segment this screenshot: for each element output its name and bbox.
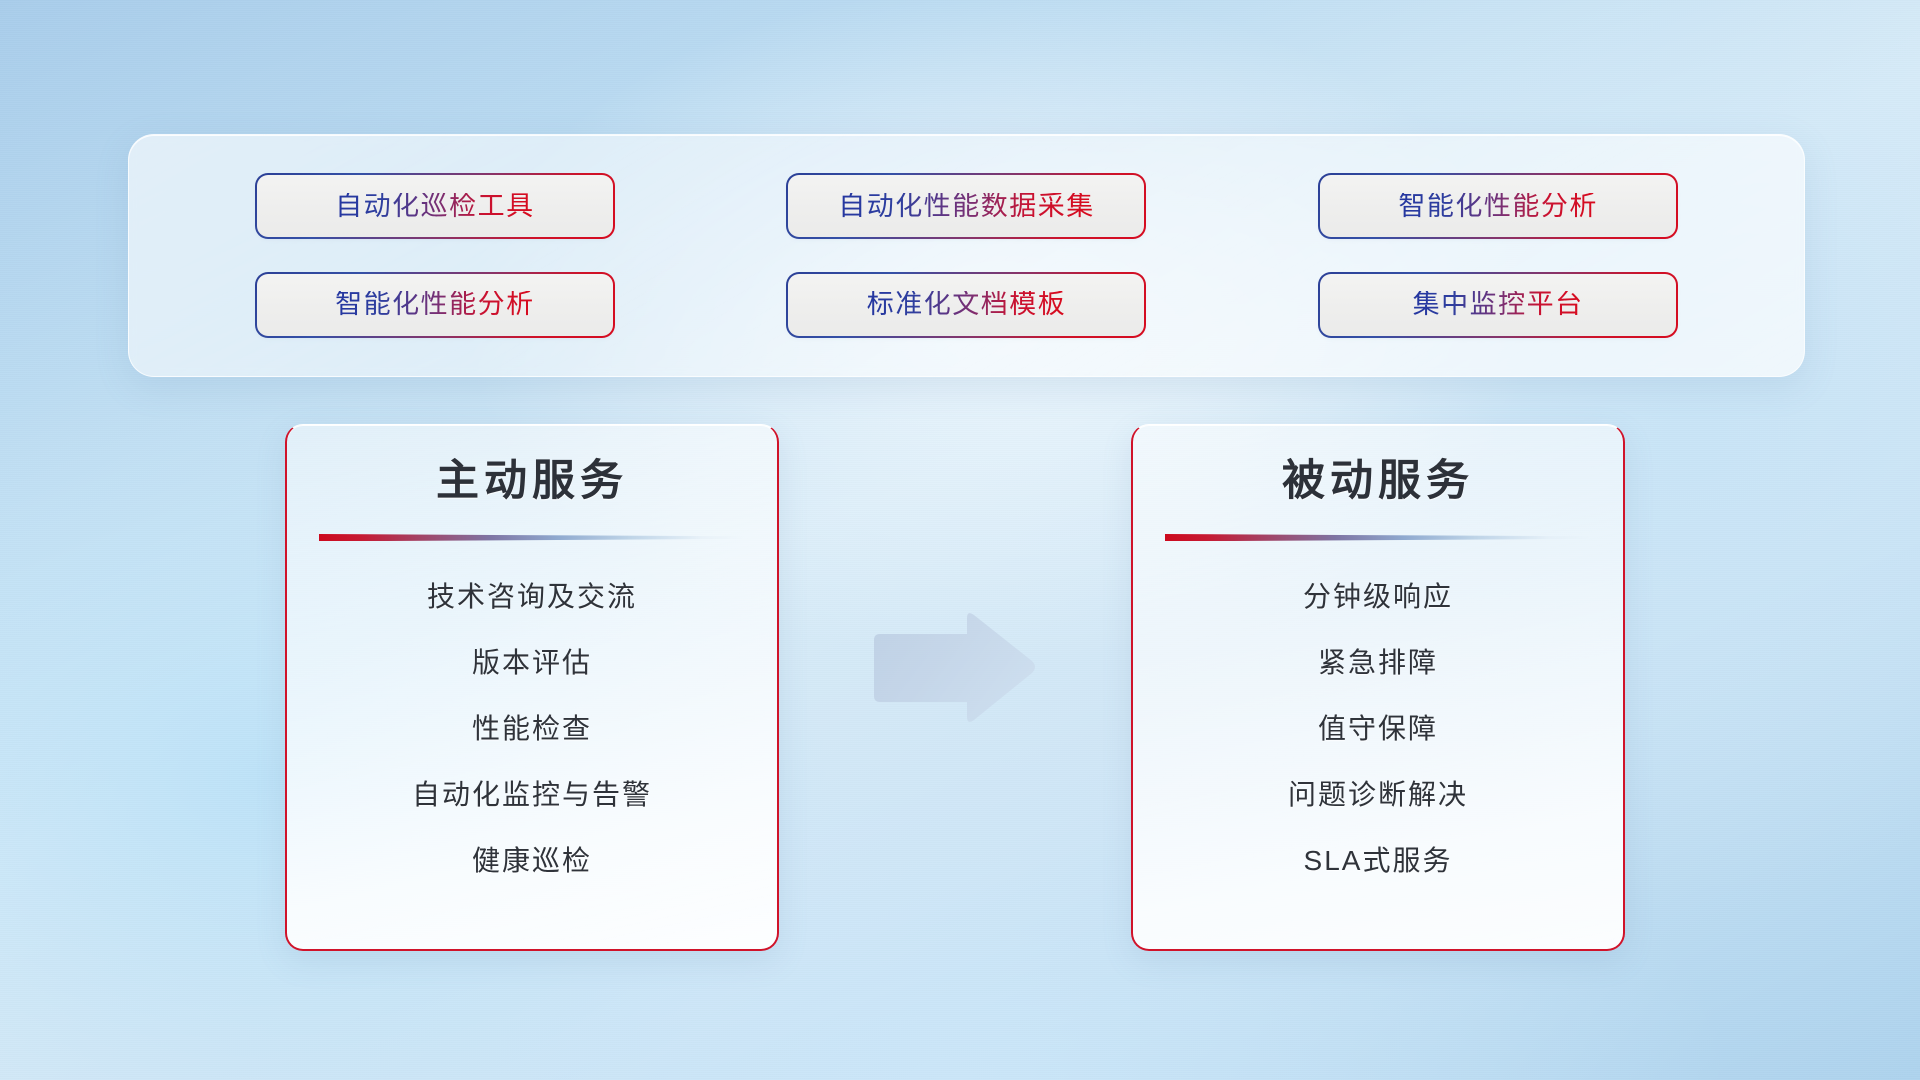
card-title: 被动服务 [1133,457,1623,506]
capability-tag-label: 智能化性能分析 [335,291,535,318]
list-item: 分钟级响应 [1303,583,1453,611]
capability-panel: 自动化巡检工具 自动化性能数据采集 智能化性能分析 智能化性能分析 标准化文档模… [128,134,1805,377]
capability-tag-2[interactable]: 智能化性能分析 [1320,175,1676,237]
capability-tag-label: 标准化文档模板 [867,291,1067,318]
arrow-right-icon [862,608,1037,728]
list-item: 紧急排障 [1318,649,1438,677]
card-title-divider [319,532,745,541]
capability-tag-label: 自动化巡检工具 [335,193,535,220]
list-item: 值守保障 [1318,715,1438,743]
capability-tag-3[interactable]: 智能化性能分析 [257,274,613,336]
infographic-canvas: 自动化巡检工具 自动化性能数据采集 智能化性能分析 智能化性能分析 标准化文档模… [0,0,1920,1080]
capability-tag-1[interactable]: 自动化性能数据采集 [788,175,1144,237]
list-item: 技术咨询及交流 [427,583,637,611]
capability-tag-label: 智能化性能分析 [1398,193,1598,220]
service-card-proactive: 主动服务 技术咨询及交流 版本评估 性能检查 自动化监控与告警 健康巡检 [285,424,779,951]
list-item: 问题诊断解决 [1288,781,1468,809]
list-item: 健康巡检 [472,847,592,875]
service-card-reactive: 被动服务 分钟级响应 紧急排障 值守保障 问题诊断解决 SLA式服务 [1131,424,1625,951]
capability-tag-label: 自动化性能数据采集 [838,193,1095,220]
card-item-list: 分钟级响应 紧急排障 值守保障 问题诊断解决 SLA式服务 [1133,583,1623,875]
capability-tag-4[interactable]: 标准化文档模板 [788,274,1144,336]
list-item: 自动化监控与告警 [412,781,652,809]
card-item-list: 技术咨询及交流 版本评估 性能检查 自动化监控与告警 健康巡检 [287,583,777,875]
list-item: 性能检查 [472,715,592,743]
card-title-divider [1165,532,1591,541]
list-item: SLA式服务 [1304,847,1453,875]
capability-tag-5[interactable]: 集中监控平台 [1320,274,1676,336]
capability-tag-label: 集中监控平台 [1413,291,1584,318]
list-item: 版本评估 [472,649,592,677]
card-title: 主动服务 [287,457,777,506]
capability-tag-0[interactable]: 自动化巡检工具 [257,175,613,237]
